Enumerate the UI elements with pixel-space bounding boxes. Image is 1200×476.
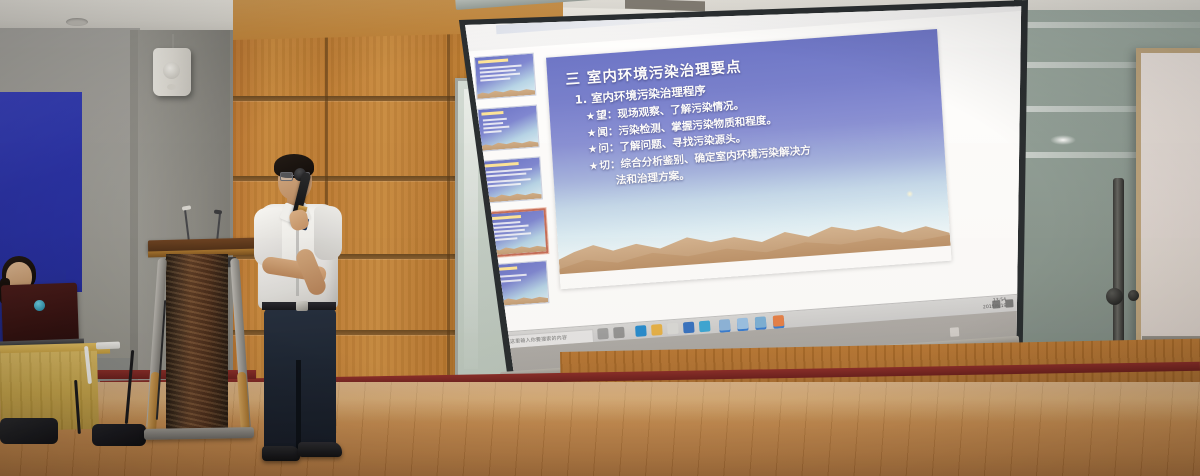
- floor-equipment: [0, 418, 58, 444]
- lecture-hall-photo: 三 室内环境污染治理要点 1. 室内环境污染治理程序 ★望：现场观察、了解污染情…: [0, 0, 1200, 476]
- cortana-icon[interactable]: [613, 327, 625, 339]
- laptop-logo-icon: [34, 300, 45, 311]
- whiteboard-adjust-knob-2[interactable]: [1128, 290, 1139, 301]
- edge-browser-icon[interactable]: [635, 325, 647, 337]
- powerpoint-icon[interactable]: [773, 315, 785, 327]
- star-icon: ★: [587, 127, 597, 140]
- file-explorer-icon[interactable]: [651, 324, 663, 336]
- ribbon-chip[interactable]: [635, 4, 653, 10]
- browser-app-icon[interactable]: [755, 316, 767, 328]
- laptop-screen[interactable]: [1, 283, 79, 348]
- presenter-shoe-right: [298, 442, 342, 457]
- ribbon-chip[interactable]: [579, 6, 599, 14]
- thumbnail-mountains: [480, 138, 538, 151]
- presenter-speaking: [240, 148, 360, 468]
- current-slide[interactable]: 三 室内环境污染治理要点 1. 室内环境污染治理程序 ★望：现场观察、了解污染情…: [546, 29, 952, 289]
- projection-screen-surface: 三 室内环境污染治理要点 1. 室内环境污染治理程序 ★望：现场观察、了解污染情…: [456, 4, 1024, 386]
- star-icon: ★: [585, 110, 595, 123]
- store-icon[interactable]: [667, 323, 679, 335]
- podium-base-plate: [144, 427, 254, 440]
- window-app-icon[interactable]: [719, 319, 731, 331]
- chat-app-icon[interactable]: [699, 320, 711, 332]
- window-app2-icon[interactable]: [737, 318, 749, 330]
- ribbon-chip[interactable]: [527, 10, 545, 18]
- ribbon-chip[interactable]: [605, 4, 629, 12]
- podium-front-panel: [166, 254, 228, 430]
- slide-thumbnail-2[interactable]: [477, 105, 540, 152]
- star-icon: ★: [589, 160, 599, 173]
- glass-band: [1018, 22, 1200, 28]
- presenter-belt-buckle: [296, 301, 308, 311]
- ribbon-chip[interactable]: [551, 8, 573, 17]
- slide-thumbnail-3[interactable]: [480, 156, 543, 203]
- floor-equipment-2: [92, 424, 146, 446]
- projected-desktop: 三 室内环境污染治理要点 1. 室内环境污染治理程序 ★望：现场观察、了解污染情…: [458, 4, 1024, 386]
- star-icon: ★: [588, 143, 598, 156]
- show-desktop-icon[interactable]: [950, 327, 960, 337]
- wood-seam: [447, 0, 450, 400]
- thumbnail-mountains: [483, 189, 541, 202]
- projection-screen: 三 室内环境污染治理要点 1. 室内环境污染治理程序 ★望：现场观察、了解污染情…: [452, 0, 1028, 392]
- slide-thumbnail-1[interactable]: [474, 53, 537, 100]
- glass-reflection: [1050, 135, 1076, 145]
- chevron-up-icon[interactable]: [1005, 299, 1013, 308]
- whiteboard-adjust-knob[interactable]: [1106, 288, 1123, 305]
- task-view-icon[interactable]: [597, 328, 609, 340]
- wall-speaker-icon: [153, 48, 191, 96]
- presentation-remote[interactable]: [96, 342, 120, 350]
- windows-start-icon[interactable]: [484, 336, 498, 350]
- presenter-shoe-left: [262, 446, 300, 461]
- ceiling-vent-icon: [66, 18, 88, 26]
- whiteboard-on-stand: [1136, 48, 1200, 350]
- pen-icon[interactable]: [992, 300, 1000, 309]
- slide-sun-icon: [906, 190, 913, 197]
- media-app-icon[interactable]: [683, 322, 695, 334]
- presenter-sleeve-right: [314, 206, 342, 260]
- thumbnail-mountains: [477, 86, 535, 99]
